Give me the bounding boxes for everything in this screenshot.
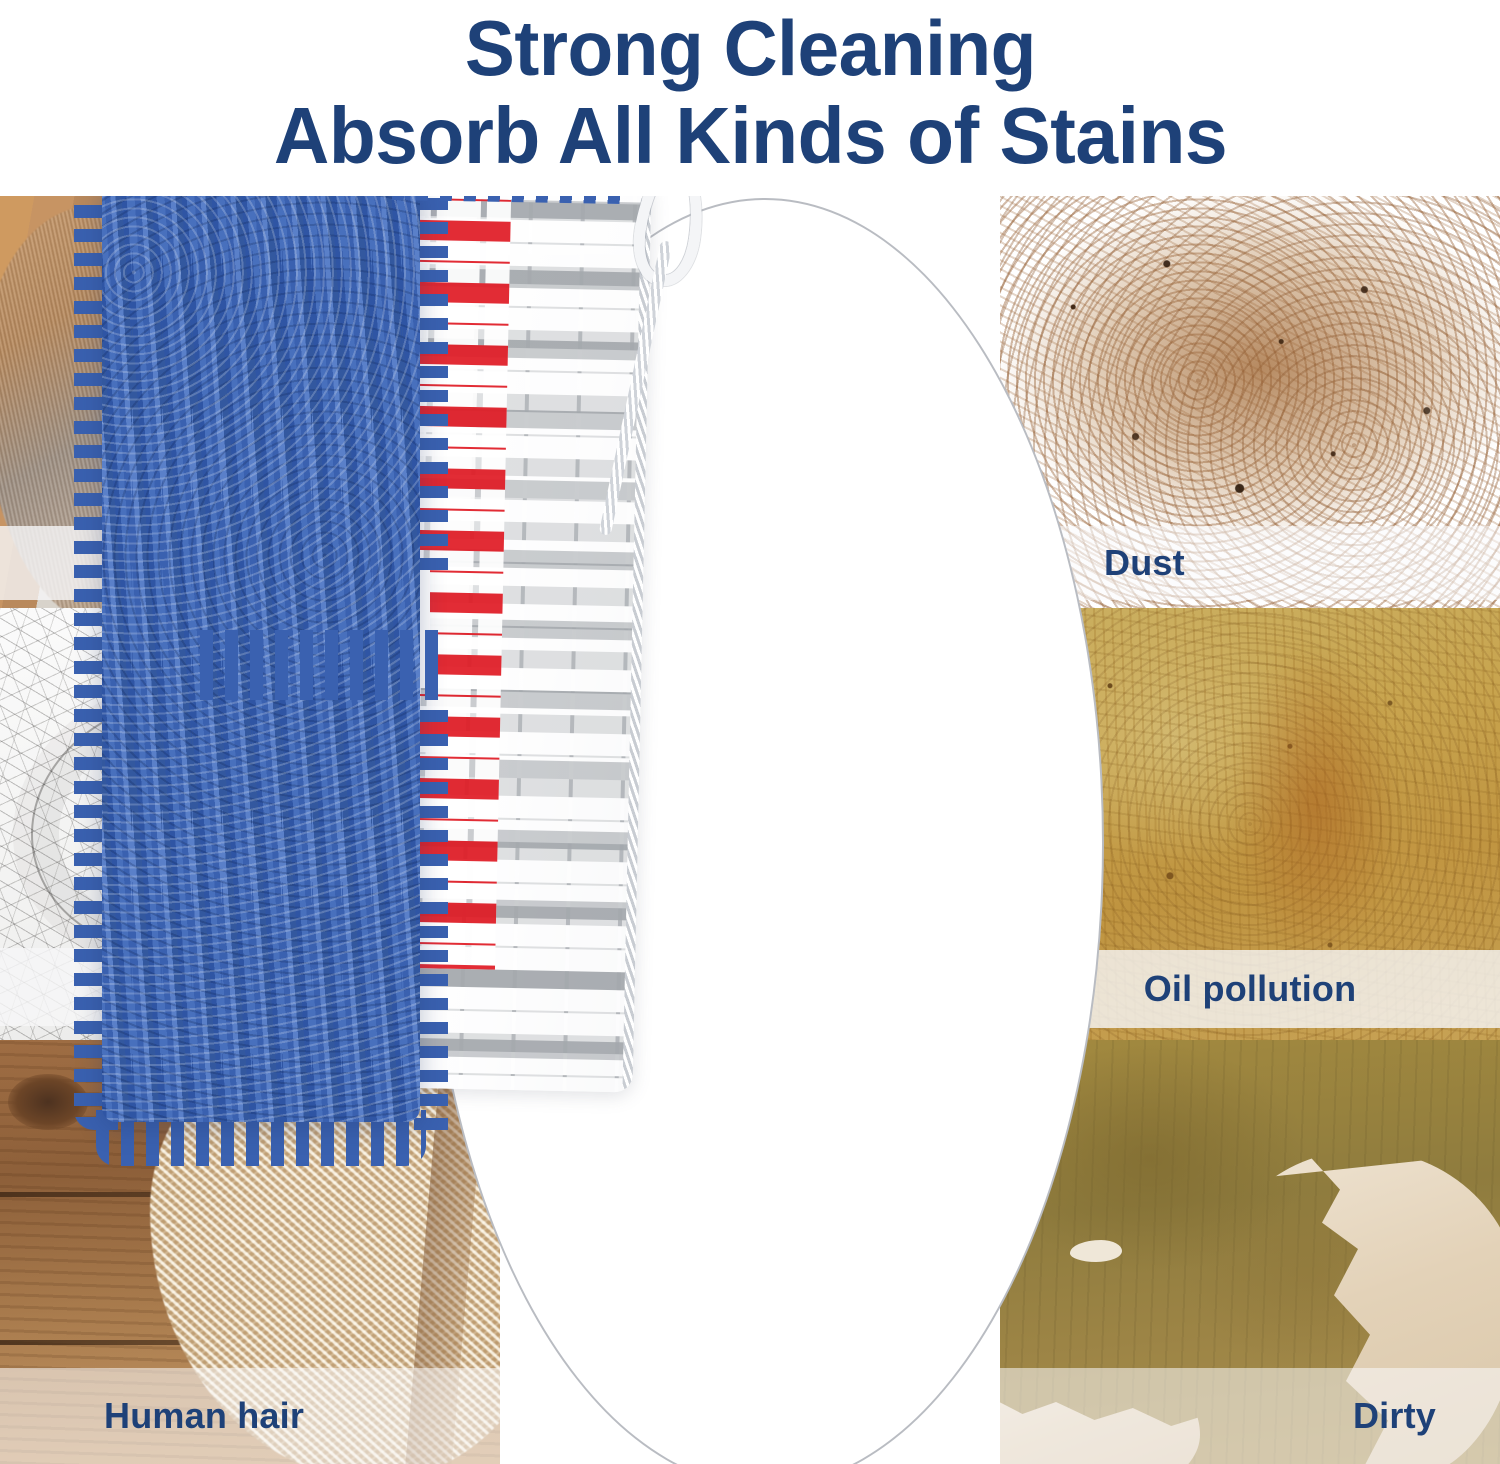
rust-smear bbox=[1230, 643, 1400, 963]
small-bare-spot bbox=[1070, 1240, 1122, 1262]
chenille-mid-tab bbox=[200, 630, 450, 700]
headline-line-1: Strong Cleaning bbox=[464, 4, 1035, 92]
label-human-hair: Human hair bbox=[0, 1395, 500, 1437]
product-infographic: Strong Cleaning Absorb All Kinds of Stai… bbox=[0, 0, 1500, 1464]
label-dirty: Dirty bbox=[1000, 1395, 1500, 1437]
headline-line-2: Absorb All Kinds of Stains bbox=[273, 92, 1226, 180]
mop-pad-product bbox=[60, 160, 620, 1140]
mop-pad-blue-side bbox=[80, 160, 440, 1140]
label-band-human-hair: Human hair bbox=[0, 1368, 500, 1464]
headline-block: Strong Cleaning Absorb All Kinds of Stai… bbox=[0, 0, 1500, 196]
label-band-dirty: Dirty bbox=[1000, 1368, 1500, 1464]
panel-dust: Dust bbox=[1000, 196, 1500, 608]
label-dust: Dust bbox=[1000, 542, 1500, 584]
